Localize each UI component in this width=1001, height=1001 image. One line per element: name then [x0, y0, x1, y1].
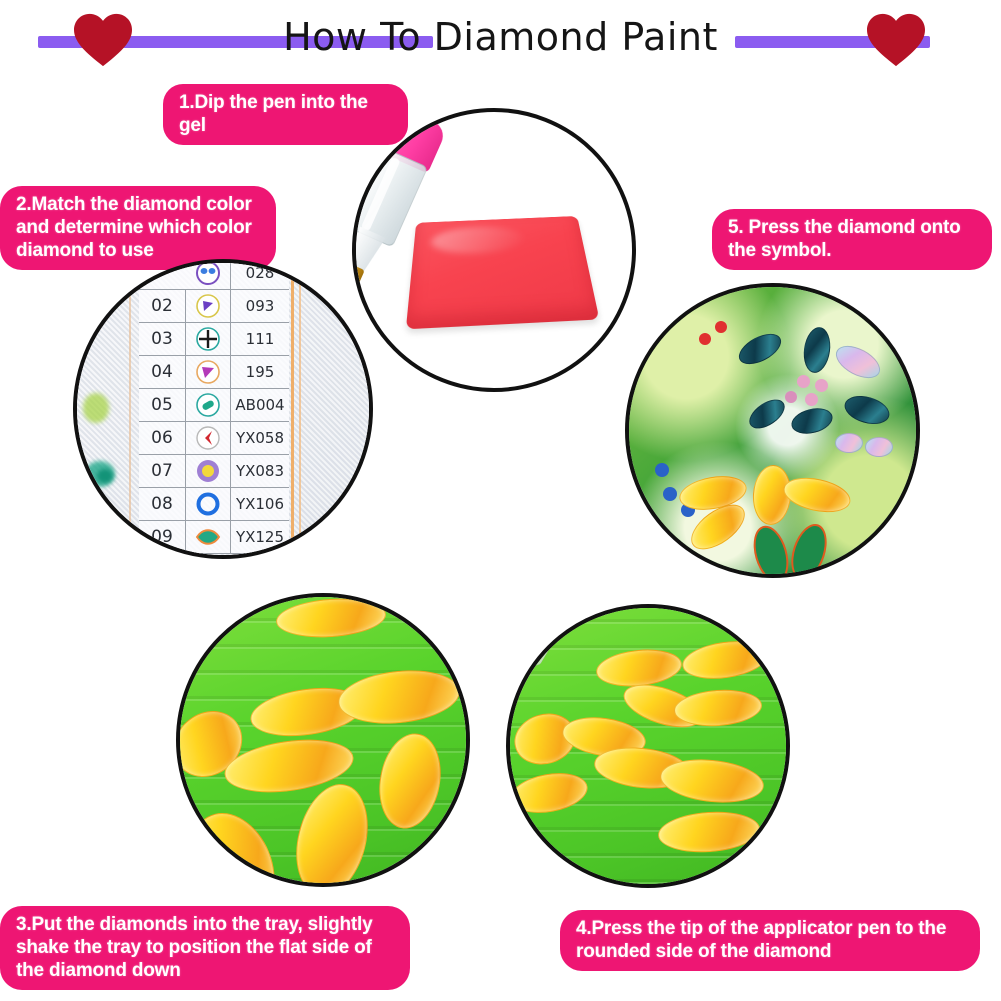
printed-symbol-dot — [715, 321, 727, 333]
table-row: 06 YX058 — [139, 422, 289, 455]
cell-no: 05 — [139, 389, 186, 421]
table-row: 02 093 — [139, 290, 289, 323]
table-row: 05 AB004 — [139, 389, 289, 422]
table-row: 08 YX106 — [139, 488, 289, 521]
color-chart-table: 028 02 093 03 111 04 — [139, 259, 289, 554]
step-1-photo — [352, 108, 636, 392]
step-5-label: 5. Press the diamond onto the symbol. — [712, 209, 992, 270]
table-row: 028 — [139, 259, 289, 290]
table-row: 04 195 — [139, 356, 289, 389]
header: How To Diamond Paint — [0, 0, 1001, 78]
printed-symbol-dot — [785, 391, 797, 403]
diamond-gem — [865, 437, 893, 457]
step-4-scene — [510, 608, 786, 884]
diamond-gem — [835, 433, 863, 453]
cell-no: 08 — [139, 488, 186, 520]
printed-blob — [83, 393, 109, 423]
step-2-label: 2.Match the diamond color and determine … — [0, 186, 276, 270]
step-5-scene — [629, 287, 916, 574]
step-4-photo — [506, 604, 790, 888]
leaf-icon — [186, 521, 231, 553]
gel-pad — [406, 216, 600, 329]
page-title: How To Diamond Paint — [0, 14, 1001, 60]
chart-guide-line — [299, 263, 301, 555]
printed-blob — [97, 469, 113, 483]
chevron-left-icon — [186, 422, 231, 454]
table-row: 03 111 — [139, 323, 289, 356]
double-dot-circle-icon — [186, 259, 231, 289]
printed-symbol-dot — [663, 487, 677, 501]
cell-no: 09 — [139, 521, 186, 553]
cell-code: 195 — [231, 356, 289, 388]
step-3-label: 3.Put the diamonds into the tray, slight… — [0, 906, 410, 990]
printed-symbol-dot — [797, 375, 810, 388]
chart-guide-line — [291, 263, 294, 555]
cell-code: YX083 — [231, 455, 289, 487]
step-3-photo — [176, 593, 470, 887]
cell-code: 028 — [231, 259, 289, 289]
table-row: 09 YX125 — [139, 521, 289, 554]
chart-guide-line — [129, 263, 131, 555]
triangle-fill-icon — [186, 356, 231, 388]
filled-circle-icon — [186, 455, 231, 487]
plus-icon — [186, 323, 231, 355]
cell-code: YX125 — [231, 521, 289, 553]
step-2-scene: 028 02 093 03 111 04 — [77, 263, 369, 555]
cell-no: 02 — [139, 290, 186, 322]
step-5-photo — [625, 283, 920, 578]
cell-code: YX058 — [231, 422, 289, 454]
cell-code: YX106 — [231, 488, 289, 520]
ring-icon — [186, 488, 231, 520]
cell-no: 03 — [139, 323, 186, 355]
printed-symbol-dot — [805, 393, 818, 406]
step-2-photo: 028 02 093 03 111 04 — [73, 259, 373, 559]
triangle-icon — [186, 290, 231, 322]
step-4-label: 4.Press the tip of the applicator pen to… — [560, 910, 980, 971]
cell-code: 093 — [231, 290, 289, 322]
printed-symbol-dot — [815, 379, 828, 392]
cell-no: 06 — [139, 422, 186, 454]
table-row: 07 YX083 — [139, 455, 289, 488]
step-3-scene — [180, 597, 466, 883]
cell-code: 111 — [231, 323, 289, 355]
printed-symbol-dot — [699, 333, 711, 345]
cell-no: 07 — [139, 455, 186, 487]
step-1-scene — [356, 112, 632, 388]
cell-no: 04 — [139, 356, 186, 388]
printed-symbol-dot — [655, 463, 669, 477]
capsule-icon — [186, 389, 231, 421]
infographic-canvas: How To Diamond Paint 1.Dip the pen into … — [0, 0, 1001, 1001]
cell-code: AB004 — [231, 389, 289, 421]
